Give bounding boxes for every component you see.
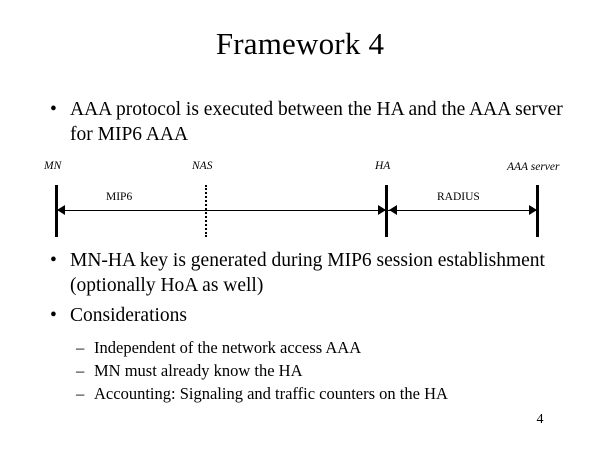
diagram-lifeline-aaa-server xyxy=(536,185,539,237)
diagram-arrow-mip6 xyxy=(57,210,386,211)
bullet-marker-icon: • xyxy=(50,97,70,122)
sub-bullet-dash-icon: – xyxy=(76,337,94,358)
bullet-text-1: AAA protocol is executed between the HA … xyxy=(70,97,570,147)
page-number: 4 xyxy=(520,411,560,428)
sub-bullet-item-2: – MN must already know the HA xyxy=(76,360,576,381)
slide-canvas: Framework 4 • AAA protocol is executed b… xyxy=(0,0,600,450)
page-title: Framework 4 xyxy=(0,26,600,62)
bullet-item-1: • AAA protocol is executed between the H… xyxy=(50,97,570,147)
diagram-node-label-aaa-server-part2: server xyxy=(528,161,560,173)
sub-bullet-text-2: MN must already know the HA xyxy=(94,360,576,381)
diagram-lifeline-ha xyxy=(385,185,388,237)
diagram-arrow-label-mip6: MIP6 xyxy=(106,191,132,204)
sub-bullet-text-3: Accounting: Signaling and traffic counte… xyxy=(94,383,576,404)
bullet-marker-icon: • xyxy=(50,303,70,328)
sub-bullet-dash-icon: – xyxy=(76,360,94,381)
sub-bullet-text-1: Independent of the network access AAA xyxy=(94,337,576,358)
sub-bullet-item-3: – Accounting: Signaling and traffic coun… xyxy=(76,383,576,404)
diagram-node-label-mn: MN xyxy=(44,160,61,173)
diagram-node-label-ha: HA xyxy=(375,160,390,173)
diagram-lifeline-mn xyxy=(55,185,58,237)
sub-bullet-dash-icon: – xyxy=(76,383,94,404)
bullet-text-3: Considerations xyxy=(70,303,570,328)
diagram-node-label-aaa-server-part1: AAA xyxy=(507,161,528,173)
bullet-item-3: • Considerations xyxy=(50,303,570,328)
diagram-arrow-radius xyxy=(388,210,537,211)
sub-bullet-item-1: – Independent of the network access AAA xyxy=(76,337,576,358)
diagram-node-label-nas: NAS xyxy=(192,160,212,173)
bullet-marker-icon: • xyxy=(50,248,70,273)
bullet-item-2: • MN-HA key is generated during MIP6 ses… xyxy=(50,248,570,298)
diagram-node-label-aaa-server: AAA server xyxy=(507,161,560,174)
diagram-lifeline-nas xyxy=(205,185,207,237)
diagram-arrow-label-radius: RADIUS xyxy=(437,191,480,204)
bullet-text-2: MN-HA key is generated during MIP6 sessi… xyxy=(70,248,570,298)
